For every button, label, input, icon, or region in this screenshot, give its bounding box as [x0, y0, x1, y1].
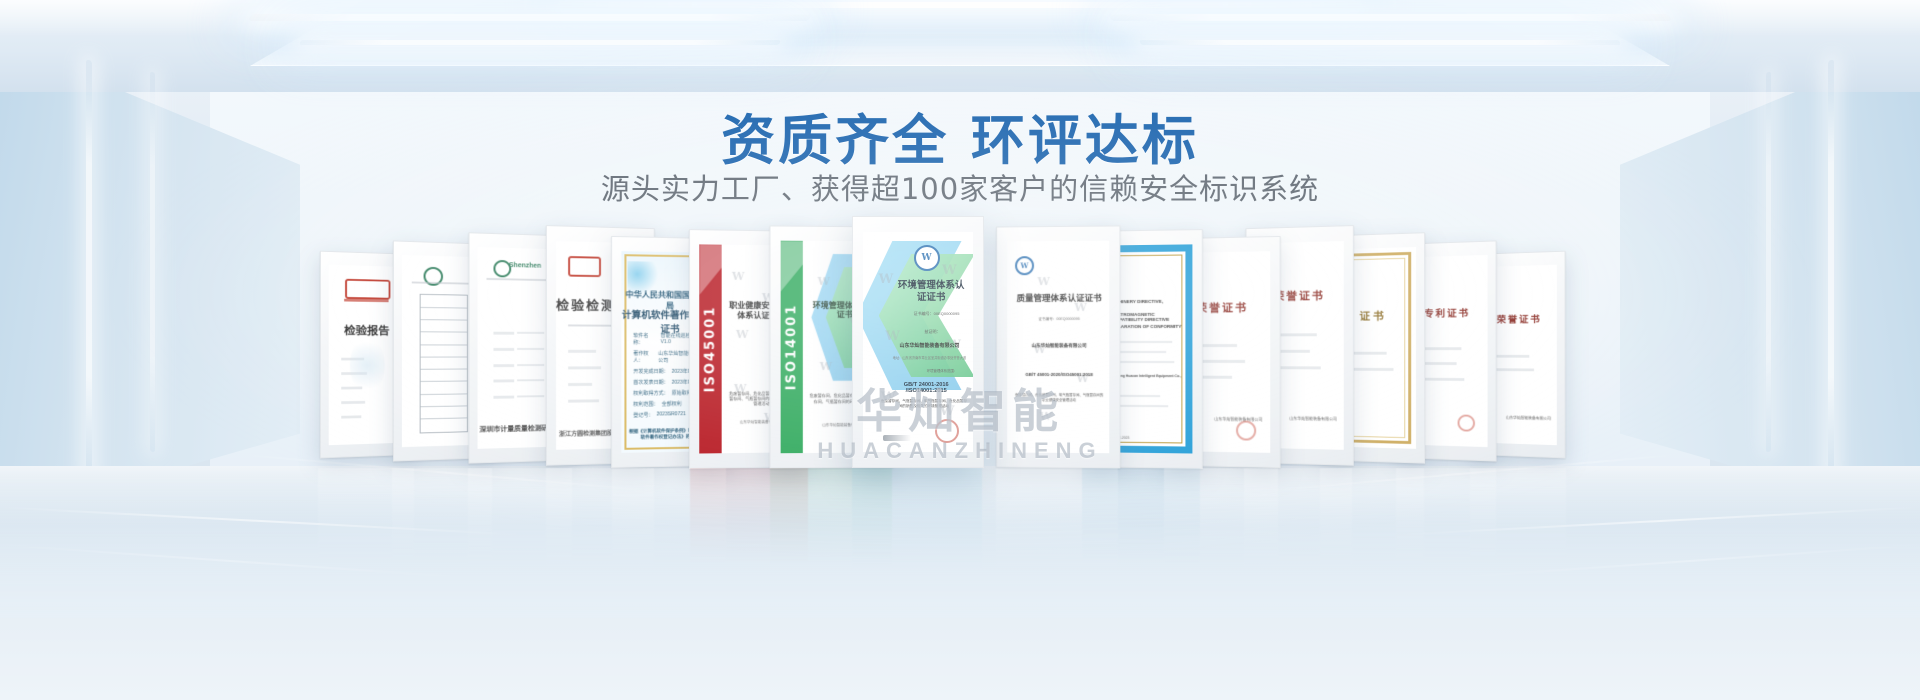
field-label: 登记号：	[633, 411, 653, 418]
certificate-frame-featured[interactable]: W W W W W W W 环境管理体系认证证书 证书编号：00EQ000009…	[852, 216, 984, 468]
certificate-org: 山东华灿智能装备有限公司	[1013, 343, 1105, 349]
reflection-fade	[0, 468, 1920, 618]
certificate-title: 环境管理体系认证证书	[894, 280, 968, 304]
certificate-spine: ISO14001	[780, 241, 803, 453]
certificate-org: 山东华灿智能装备有限公司	[892, 342, 967, 349]
certificate-frame[interactable]: W W W W W W 质量管理体系认证证书 证书编号：00EQ0000095 …	[996, 225, 1120, 468]
field-value: 2023SR0721	[657, 411, 686, 418]
certificate-body: 危废暂存间、气瓶暂存间、氧气瓶暂存间、危化品暂存间的销售及相关的环境管理活动	[881, 399, 967, 409]
certificate-title: 质量管理体系认证证书	[1013, 292, 1105, 304]
certificate-address: 地址：山东省济南市章丘区圣井街道办事处齐鲁大道	[892, 355, 967, 360]
certificate-standard: ISO14001	[784, 304, 799, 391]
certificate-number: 证书编号：00EQ0000095	[1013, 317, 1105, 322]
certification-banner: 资质齐全 环评达标 源头实力工厂、获得超100家客户的信赖安全标识系统 检验报告	[0, 0, 1920, 700]
red-seal	[935, 419, 959, 443]
certificate-number: 证书编号：00EQ0000095	[907, 311, 966, 317]
certificate-standard: ISO45001	[703, 305, 718, 392]
field-value: 全部权利	[662, 400, 682, 407]
field-label: 权利取得方式：	[633, 389, 668, 396]
field-label: 首次发表日期：	[633, 378, 668, 385]
certificate-org: 山东华灿智能装备有限公司	[1488, 414, 1551, 421]
field-label: 权利范围：	[633, 400, 658, 407]
certificate-standard: GB/T 24001-2016 /ISO14001:2015	[885, 382, 967, 394]
certificate-spine: ISO45001	[700, 244, 722, 453]
certificate-org-label: 兹证明：	[925, 329, 941, 335]
field-label: 著作权人：	[633, 350, 655, 364]
red-seal	[1236, 421, 1256, 441]
certificate-scope-label: 环境管理体系范围：	[927, 368, 958, 373]
certificate-standard: GB/T 45001-2020/ISO45001:2018	[1013, 372, 1105, 377]
accreditation-seal: W	[1015, 256, 1034, 275]
certificate-body: 危废暂存间、危化品暂存间、氧气瓶暂存间、气瓶暂存间的职业健康安全管理活动	[1015, 393, 1103, 403]
signature-mark	[883, 435, 911, 441]
red-seal	[1457, 414, 1474, 431]
accreditation-seal: W	[914, 245, 940, 271]
field-label: 软件名称：	[633, 332, 657, 346]
field-label: 开发完成日期：	[633, 368, 668, 375]
